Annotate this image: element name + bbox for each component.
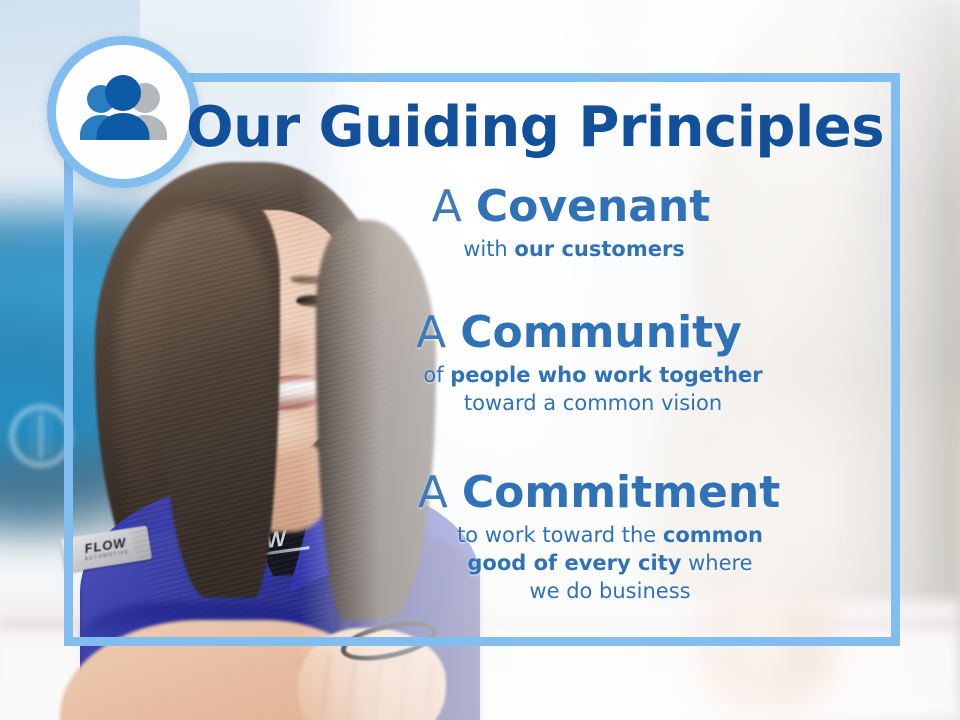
principles-list: A Covenant with our customers A Communit… xyxy=(300,182,900,608)
principle-subtext-line: toward a common vision xyxy=(328,390,858,418)
principle-covenant: A Covenant with our customers xyxy=(300,182,858,264)
principle-subtext: of people who work together toward a com… xyxy=(300,362,858,418)
page-title: Our Guiding Principles xyxy=(0,95,960,160)
subtext-segment-bold: people who work together xyxy=(450,363,762,387)
subtext-segment: to work toward the xyxy=(457,523,663,547)
subtext-segment: with xyxy=(463,237,514,261)
subtext-segment: where xyxy=(681,551,752,575)
principle-subtext: to work toward the common good of every … xyxy=(300,522,858,606)
principle-subtext-line: to work toward the common xyxy=(362,522,858,550)
principle-article: A xyxy=(418,467,462,518)
subtext-segment-bold: good of every city xyxy=(467,551,681,575)
principle-subtext: with our customers xyxy=(300,236,858,264)
subtext-segment: we do business xyxy=(529,579,690,603)
principle-subtext-line: of people who work together xyxy=(328,362,858,390)
principle-word: Community xyxy=(460,307,742,358)
principle-heading: A Community xyxy=(300,308,858,358)
principle-heading: A Covenant xyxy=(300,182,858,232)
shirt-button xyxy=(351,620,359,628)
principle-community: A Community of people who work together … xyxy=(300,308,858,418)
principle-article: A xyxy=(416,307,460,358)
principle-subtext-line: good of every city where xyxy=(362,550,858,578)
principle-article: A xyxy=(432,181,476,232)
principle-heading: A Commitment xyxy=(300,468,858,518)
principle-subtext-line: we do business xyxy=(362,578,858,606)
principle-commitment: A Commitment to work toward the common g… xyxy=(300,468,858,606)
blurred-customer-hand xyxy=(690,600,840,720)
subtext-segment-bold: common xyxy=(663,523,763,547)
subtext-segment: of xyxy=(423,363,450,387)
guiding-principles-poster: FLOW FLOW AUTOMOTIVE xyxy=(0,0,960,720)
principle-word: Covenant xyxy=(476,181,710,232)
subtext-segment-bold: our customers xyxy=(514,237,684,261)
principle-subtext-line: with our customers xyxy=(300,236,848,264)
subtext-segment: toward a common vision xyxy=(464,391,722,415)
principle-word: Commitment xyxy=(462,467,780,518)
